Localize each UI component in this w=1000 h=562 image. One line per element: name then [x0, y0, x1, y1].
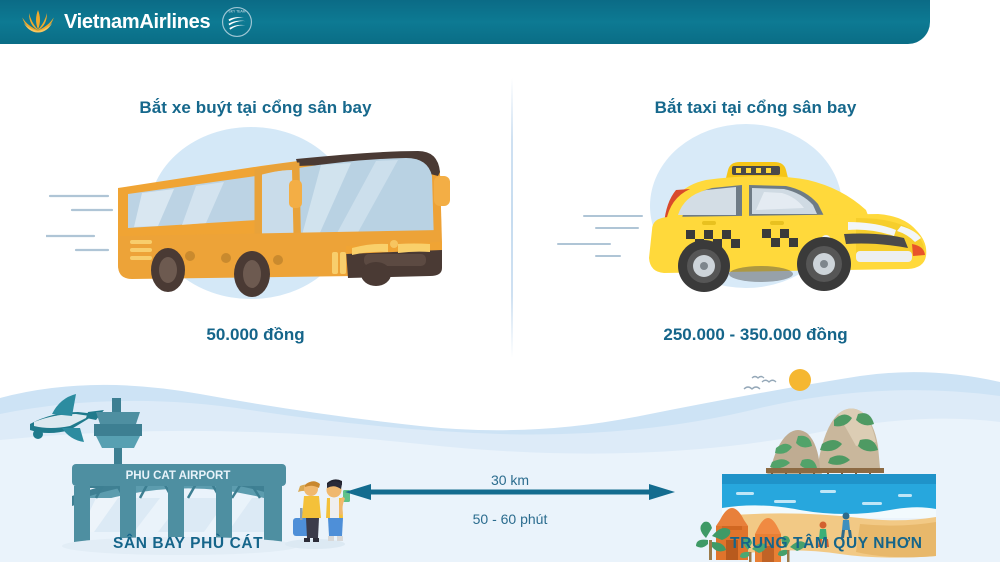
birds-icon	[744, 377, 776, 390]
brand-name: VietnamAirlines	[64, 11, 210, 34]
skyteam-icon: SKY TEAM	[220, 5, 254, 39]
option-panel-taxi: Bắt taxi tại cổng sân bay	[511, 60, 1000, 360]
origin-label: SÂN BAY PHÙ CÁT	[113, 535, 263, 553]
svg-text:SKY TEAM: SKY TEAM	[229, 10, 246, 14]
distance-value: 30 km	[410, 472, 610, 488]
scene-background: PHU CAT AIRPORT	[0, 368, 1000, 562]
header-bar: VietnamAirlines SKY TEAM	[0, 0, 930, 44]
sun-icon	[789, 369, 811, 391]
lotus-icon	[20, 7, 56, 37]
taxi-price: 250.000 - 350.000 đồng	[511, 325, 1000, 345]
route-scene: PHU CAT AIRPORT	[0, 368, 1000, 562]
taxi-option-title: Bắt taxi tại cổng sân bay	[511, 98, 1000, 118]
taxi-illustration	[511, 118, 1000, 308]
bus-icon	[46, 118, 466, 308]
infographic-stage: VietnamAirlines SKY TEAM Bắt xe buýt tại…	[0, 0, 1000, 562]
terminal-sign-text: PHU CAT AIRPORT	[126, 470, 231, 482]
bus-option-title: Bắt xe buýt tại cổng sân bay	[0, 98, 511, 118]
bus-illustration	[0, 118, 511, 308]
brand-logo: VietnamAirlines SKY TEAM	[20, 4, 254, 40]
option-panel-bus: Bắt xe buýt tại cổng sân bay	[0, 60, 511, 360]
destination-label: TRUNG TÂM QUY NHƠN	[730, 535, 923, 553]
duration-value: 50 - 60 phút	[410, 511, 610, 527]
taxi-icon	[556, 118, 956, 303]
bus-price: 50.000 đồng	[0, 325, 511, 345]
